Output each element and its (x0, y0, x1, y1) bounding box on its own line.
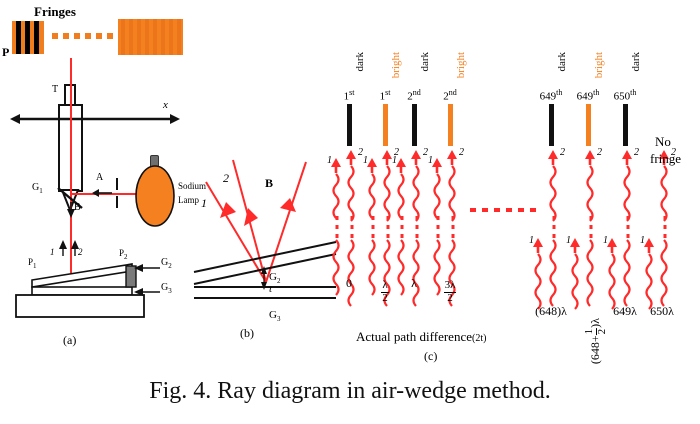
panel-b-ray2-label: 2 (223, 172, 229, 184)
sodium-lamp-label-2: Lamp (178, 196, 199, 205)
ray-waveform (430, 174, 446, 216)
ray-waveform (657, 240, 673, 298)
fringe-type-label: dark (556, 52, 568, 72)
fringe-order-label: 2nd (433, 88, 467, 103)
fringe-bar-bright (383, 104, 388, 146)
fringe-connector-dots (52, 33, 114, 40)
ray-waveform (605, 254, 621, 300)
ray-waveform (409, 166, 425, 214)
fringe-order-label: 2nd (397, 88, 431, 103)
fringe-bar-dark (623, 104, 628, 146)
panel-c-label: (c) (424, 349, 437, 364)
no-fringe-label-1: No (655, 135, 671, 148)
ray-index-label: 2 (597, 147, 602, 158)
ray-waveform (583, 166, 599, 214)
ray-arrow-head (644, 238, 656, 254)
ray-index-label: 1 (529, 235, 534, 246)
fringe-type-label: bright (390, 52, 402, 78)
ray-arrow-head (607, 238, 619, 254)
ray-waveform (546, 166, 562, 214)
ray-gap-dots (371, 216, 375, 238)
ray-index-label: 1 (603, 235, 608, 246)
fringe-type-label: dark (354, 52, 366, 72)
ray-index-label: 2 (560, 147, 565, 158)
fringe-bar-bright (448, 104, 453, 146)
ray-gap-dots (436, 216, 440, 238)
x-axis-arrow (10, 112, 180, 126)
ray-arrow-head (432, 158, 444, 174)
sodium-lamp (134, 165, 176, 227)
ray-gap-dots (335, 216, 339, 238)
ray-index-label: 1 (327, 155, 332, 166)
ray-arrow-head (570, 238, 582, 254)
path-difference-caption-sub: (2t) (472, 333, 486, 344)
fringe-pattern-eyepiece (12, 21, 44, 54)
ray-waveform (642, 254, 658, 300)
fringe-bar-bright (586, 104, 591, 146)
x-axis-label: x (163, 100, 168, 111)
ray-gap-dots (415, 216, 419, 238)
ray-arrow-head (331, 158, 343, 174)
ray-gap-dots (451, 216, 455, 238)
ray-waveform (583, 240, 599, 298)
eyepiece-label-p: P (2, 46, 9, 58)
ray-1-arrow-a (58, 240, 68, 258)
panel-b-rays (198, 150, 338, 300)
plate-label-g2-a: G2 (161, 258, 172, 270)
ray-gap-dots (552, 216, 556, 238)
path-difference-caption: Actual path difference(2t) (356, 330, 486, 344)
panel-a-label: (a) (63, 333, 76, 348)
ray-gap-dots (386, 216, 390, 238)
ray-waveform (568, 254, 584, 300)
ray-1-label-a: 1 (50, 248, 55, 257)
spacer-label-p2: P2 (119, 249, 128, 261)
g2-leader-arrow (134, 262, 162, 274)
no-fringe-label-2: fringe (650, 152, 681, 165)
path-difference-value: (648+12)λ (584, 318, 608, 364)
ray-gap-dots (626, 216, 630, 238)
panel-b-plate-label-g3: G3 (269, 310, 280, 323)
fringe-type-label: dark (630, 52, 642, 72)
panel-b-label: (b) (240, 326, 254, 341)
beam-splitter-label-g1: G1 (32, 183, 43, 195)
ray-gap-dots (589, 216, 593, 238)
ray-arrow-head (447, 150, 459, 166)
aperture-label-a: A (96, 173, 103, 183)
ray-index-label: 1 (363, 155, 368, 166)
fringe-series-ellipsis (470, 206, 540, 214)
path-difference-caption-text: Actual path difference (356, 329, 472, 344)
ray-index-label: 1 (640, 235, 645, 246)
ray-waveform (445, 166, 461, 214)
path-difference-value: 650λ (638, 304, 686, 319)
contact-point-label-p1: P1 (28, 258, 37, 270)
panel-b-thickness-label: t (269, 284, 272, 295)
ray-waveform (344, 166, 360, 214)
ray-gap-dots (400, 216, 404, 238)
path-difference-value: 3λ2 (434, 280, 466, 304)
fringe-bar-dark (549, 104, 554, 146)
ray-waveform (365, 174, 381, 216)
ray-arrow-head (367, 158, 379, 174)
ray-gap-dots (350, 216, 354, 238)
ray-waveform (531, 254, 547, 300)
ray-waveform (546, 240, 562, 298)
fringe-bar-dark (347, 104, 352, 146)
fringes-title: Fringes (34, 5, 76, 18)
ray-index-label: 1 (428, 155, 433, 166)
fringe-order-label: 649th (534, 88, 568, 103)
ray-arrow-head (411, 150, 423, 166)
ray-b-label: B (74, 203, 81, 213)
ray-waveform (657, 166, 673, 214)
plate-label-g3-a: G3 (161, 283, 172, 295)
fringe-pattern-field (118, 19, 183, 55)
ray-arrow-head (396, 158, 408, 174)
ray-index-label: 2 (634, 147, 639, 158)
aperture-slit-bottom (116, 196, 118, 208)
ray-2-label-a: 2 (78, 248, 83, 257)
fringe-order-label: 650th (608, 88, 642, 103)
aperture-slit-top (116, 178, 118, 190)
ray-index-label: 1 (566, 235, 571, 246)
ray-arrow-head (622, 150, 634, 166)
g3-leader-arrow (134, 286, 162, 298)
fringe-type-label: bright (593, 52, 605, 78)
ray-waveform (620, 240, 636, 298)
fringe-order-label: 649th (571, 88, 605, 103)
ray-arrow-head (585, 150, 597, 166)
ray-index-label: 2 (459, 147, 464, 158)
ray-gap-dots (663, 216, 667, 238)
ray-index-label: 1 (392, 155, 397, 166)
fringe-order-label: 1st (332, 88, 366, 103)
microscope-tube-label-t: T (52, 85, 58, 95)
ray-arrow-head (533, 238, 545, 254)
ray-waveform (620, 166, 636, 214)
path-difference-value: (648)λ (527, 304, 575, 319)
figure-caption: Fig. 4. Ray diagram in air-wedge method. (0, 378, 700, 405)
aperture-a (92, 186, 114, 200)
fringe-type-label: dark (419, 52, 431, 72)
fringe-type-label: bright (455, 52, 467, 78)
panel-b-rayB-label: B (265, 177, 273, 189)
ray-waveform (394, 174, 410, 216)
ray-waveform (329, 174, 345, 216)
fringe-bar-dark (412, 104, 417, 146)
ray-arrow-head (346, 150, 358, 166)
ray-arrow-head (548, 150, 560, 166)
panel-b-ray1-label: 1 (201, 197, 207, 209)
